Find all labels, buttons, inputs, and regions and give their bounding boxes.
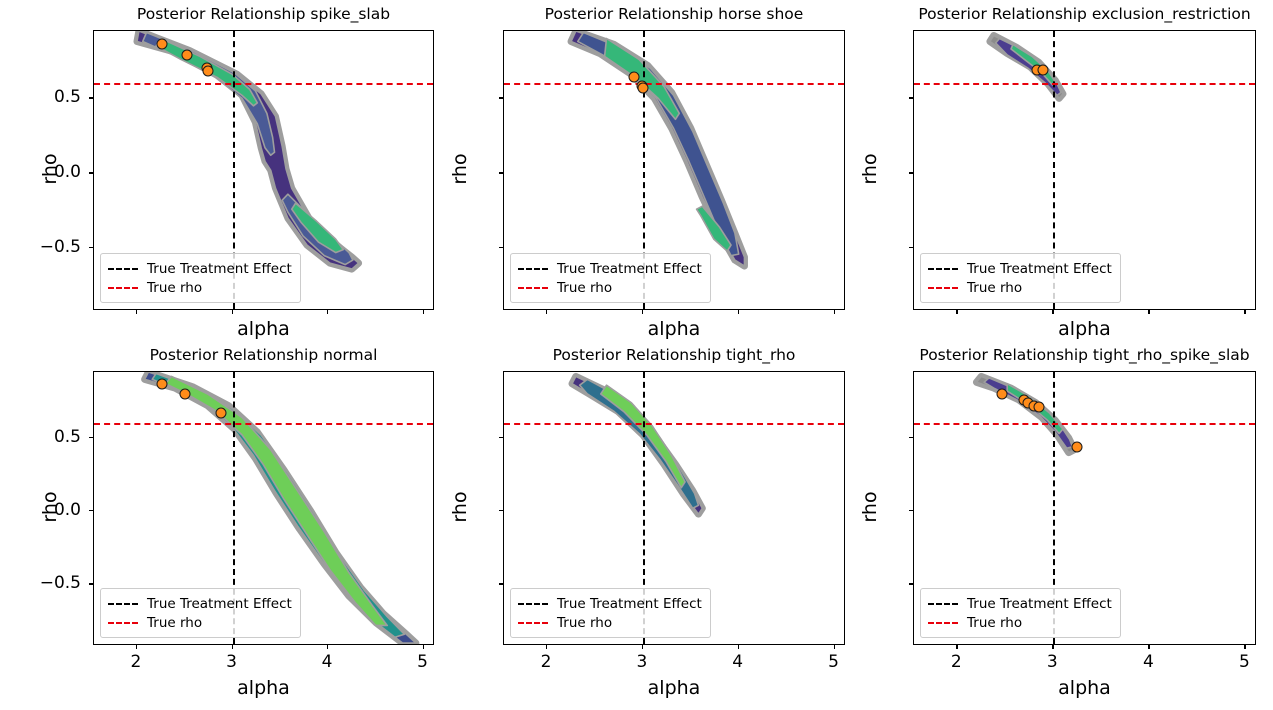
x-tick-label: 3 — [1047, 652, 1058, 672]
panel-tight_rho_spike_slab: Posterior Relationship tight_rho_spike_s… — [853, 345, 1273, 709]
legend-label: True Treatment Effect — [557, 596, 702, 612]
legend-label: True rho — [967, 280, 1022, 296]
legend-label: True rho — [557, 615, 612, 631]
true-rho-line — [94, 83, 433, 85]
red-dashed-line-icon — [518, 287, 548, 289]
x-tick-label: 4 — [322, 652, 333, 672]
posterior-mean-point — [997, 388, 1008, 399]
x-tick — [546, 310, 547, 314]
legend-box: True Treatment EffectTrue rho — [510, 588, 711, 638]
plot-area: True Treatment EffectTrue rho — [93, 30, 434, 310]
black-dashed-line-icon — [108, 268, 138, 270]
x-tick-label: 2 — [541, 652, 552, 672]
y-tick — [499, 583, 503, 584]
x-tick — [834, 645, 835, 649]
panel-title: Posterior Relationship spike_slab — [33, 4, 494, 24]
x-tick — [642, 645, 643, 649]
legend-label: True rho — [147, 280, 202, 296]
x-tick — [136, 645, 137, 649]
plot-area: True Treatment EffectTrue rho — [503, 371, 845, 645]
legend-item: True Treatment Effect — [928, 594, 1112, 613]
x-axis-label: alpha — [853, 677, 1273, 699]
plot-area: True Treatment EffectTrue rho — [913, 30, 1256, 310]
y-axis-label: rho — [859, 482, 881, 532]
posterior-mean-point — [1037, 64, 1048, 75]
posterior-mean-point — [216, 408, 227, 419]
true-rho-line — [504, 423, 844, 425]
red-dashed-line-icon — [928, 622, 958, 624]
red-dashed-line-icon — [518, 622, 548, 624]
posterior-mean-point — [156, 39, 167, 50]
y-axis-label: rho — [39, 482, 61, 532]
x-tick-label: 3 — [636, 652, 647, 672]
y-tick — [909, 583, 913, 584]
panel-tight_rho: Posterior Relationship tight_rhoTrue Tre… — [443, 345, 905, 709]
y-tick — [499, 437, 503, 438]
legend-item: True Treatment Effect — [928, 259, 1112, 278]
plot-area: True Treatment EffectTrue rho — [503, 30, 845, 310]
legend-item: True rho — [108, 278, 292, 297]
panel-spike_slab: Posterior Relationship spike_slabTrue Tr… — [33, 4, 494, 374]
y-tick — [909, 247, 913, 248]
panel-horse shoe: Posterior Relationship horse shoeTrue Tr… — [443, 4, 905, 374]
y-tick-label: 0.5 — [33, 427, 81, 447]
y-tick — [89, 437, 93, 438]
legend-item: True rho — [518, 613, 702, 632]
panel-title: Posterior Relationship tight_rho_spike_s… — [853, 345, 1273, 365]
true-rho-line — [94, 423, 433, 425]
x-tick — [1148, 645, 1149, 649]
legend-box: True Treatment EffectTrue rho — [510, 253, 711, 303]
black-dashed-line-icon — [928, 603, 958, 605]
x-tick-label: 3 — [226, 652, 237, 672]
panel-title: Posterior Relationship tight_rho — [443, 345, 905, 365]
black-dashed-line-icon — [518, 268, 548, 270]
x-tick — [1244, 310, 1245, 314]
x-axis-label: alpha — [33, 677, 494, 699]
x-tick — [738, 645, 739, 649]
y-axis-label: rho — [449, 144, 471, 194]
posterior-mean-point — [179, 388, 190, 399]
legend-item: True Treatment Effect — [108, 259, 292, 278]
x-tick — [232, 310, 233, 314]
x-tick-label: 2 — [131, 652, 142, 672]
x-tick — [1052, 645, 1053, 649]
posterior-mean-point — [637, 82, 648, 93]
legend-label: True Treatment Effect — [147, 596, 292, 612]
y-tick — [89, 97, 93, 98]
x-tick — [423, 310, 424, 314]
black-dashed-line-icon — [928, 268, 958, 270]
y-tick — [499, 247, 503, 248]
x-tick-label: 4 — [1143, 652, 1154, 672]
panel-title: Posterior Relationship exclusion_restric… — [853, 4, 1273, 24]
figure-canvas: Posterior Relationship spike_slabTrue Tr… — [0, 0, 1273, 710]
legend-label: True rho — [967, 615, 1022, 631]
posterior-mean-point — [202, 66, 213, 77]
x-tick-label: 4 — [732, 652, 743, 672]
y-tick-label: −0.5 — [33, 237, 81, 257]
y-tick — [89, 510, 93, 511]
true-rho-line — [504, 83, 844, 85]
x-tick-label: 5 — [1239, 652, 1250, 672]
legend-box: True Treatment EffectTrue rho — [920, 253, 1121, 303]
y-tick — [499, 510, 503, 511]
legend-item: True Treatment Effect — [518, 594, 702, 613]
x-tick — [546, 645, 547, 649]
x-tick-label: 5 — [417, 652, 428, 672]
x-tick — [136, 310, 137, 314]
true-rho-line — [914, 83, 1255, 85]
x-tick-label: 2 — [951, 652, 962, 672]
x-tick — [1052, 310, 1053, 314]
legend-label: True Treatment Effect — [147, 261, 292, 277]
x-axis-label: alpha — [443, 318, 905, 340]
x-tick — [327, 645, 328, 649]
x-tick — [423, 645, 424, 649]
legend-item: True Treatment Effect — [108, 594, 292, 613]
legend-label: True Treatment Effect — [967, 596, 1112, 612]
x-axis-label: alpha — [33, 318, 494, 340]
x-tick — [834, 310, 835, 314]
legend-item: True Treatment Effect — [518, 259, 702, 278]
y-axis-label: rho — [859, 144, 881, 194]
posterior-mean-point — [1033, 402, 1044, 413]
y-tick — [89, 247, 93, 248]
y-tick — [89, 583, 93, 584]
legend-box: True Treatment EffectTrue rho — [920, 588, 1121, 638]
x-tick-label: 5 — [828, 652, 839, 672]
y-axis-label: rho — [449, 482, 471, 532]
x-tick — [232, 645, 233, 649]
posterior-mean-point — [156, 378, 167, 389]
plot-area: True Treatment EffectTrue rho — [93, 371, 434, 645]
x-axis-label: alpha — [443, 677, 905, 699]
y-tick — [499, 97, 503, 98]
x-tick — [738, 310, 739, 314]
legend-item: True rho — [928, 278, 1112, 297]
y-tick — [499, 172, 503, 173]
x-tick — [1148, 310, 1149, 314]
true-rho-line — [914, 423, 1255, 425]
panel-title: Posterior Relationship normal — [33, 345, 494, 365]
legend-label: True rho — [557, 280, 612, 296]
x-tick — [956, 645, 957, 649]
legend-box: True Treatment EffectTrue rho — [100, 253, 301, 303]
posterior-mean-point — [181, 49, 192, 60]
y-tick — [909, 97, 913, 98]
red-dashed-line-icon — [108, 622, 138, 624]
legend-label: True rho — [147, 615, 202, 631]
y-tick — [909, 437, 913, 438]
legend-label: True Treatment Effect — [557, 261, 702, 277]
panel-title: Posterior Relationship horse shoe — [443, 4, 905, 24]
panel-exclusion_restriction: Posterior Relationship exclusion_restric… — [853, 4, 1273, 374]
y-tick — [89, 172, 93, 173]
legend-item: True rho — [928, 613, 1112, 632]
black-dashed-line-icon — [518, 603, 548, 605]
y-tick-label: 0.5 — [33, 87, 81, 107]
x-tick — [1244, 645, 1245, 649]
x-tick — [327, 310, 328, 314]
red-dashed-line-icon — [928, 287, 958, 289]
legend-item: True rho — [518, 278, 702, 297]
panel-normal: Posterior Relationship normalTrue Treatm… — [33, 345, 494, 709]
plot-area: True Treatment EffectTrue rho — [913, 371, 1256, 645]
black-dashed-line-icon — [108, 603, 138, 605]
legend-box: True Treatment EffectTrue rho — [100, 588, 301, 638]
posterior-mean-point — [1072, 441, 1083, 452]
legend-item: True rho — [108, 613, 292, 632]
x-tick — [956, 310, 957, 314]
x-axis-label: alpha — [853, 318, 1273, 340]
y-axis-label: rho — [39, 144, 61, 194]
red-dashed-line-icon — [108, 287, 138, 289]
y-tick — [909, 172, 913, 173]
y-tick-label: −0.5 — [33, 573, 81, 593]
y-tick — [909, 510, 913, 511]
legend-label: True Treatment Effect — [967, 261, 1112, 277]
x-tick — [642, 310, 643, 314]
